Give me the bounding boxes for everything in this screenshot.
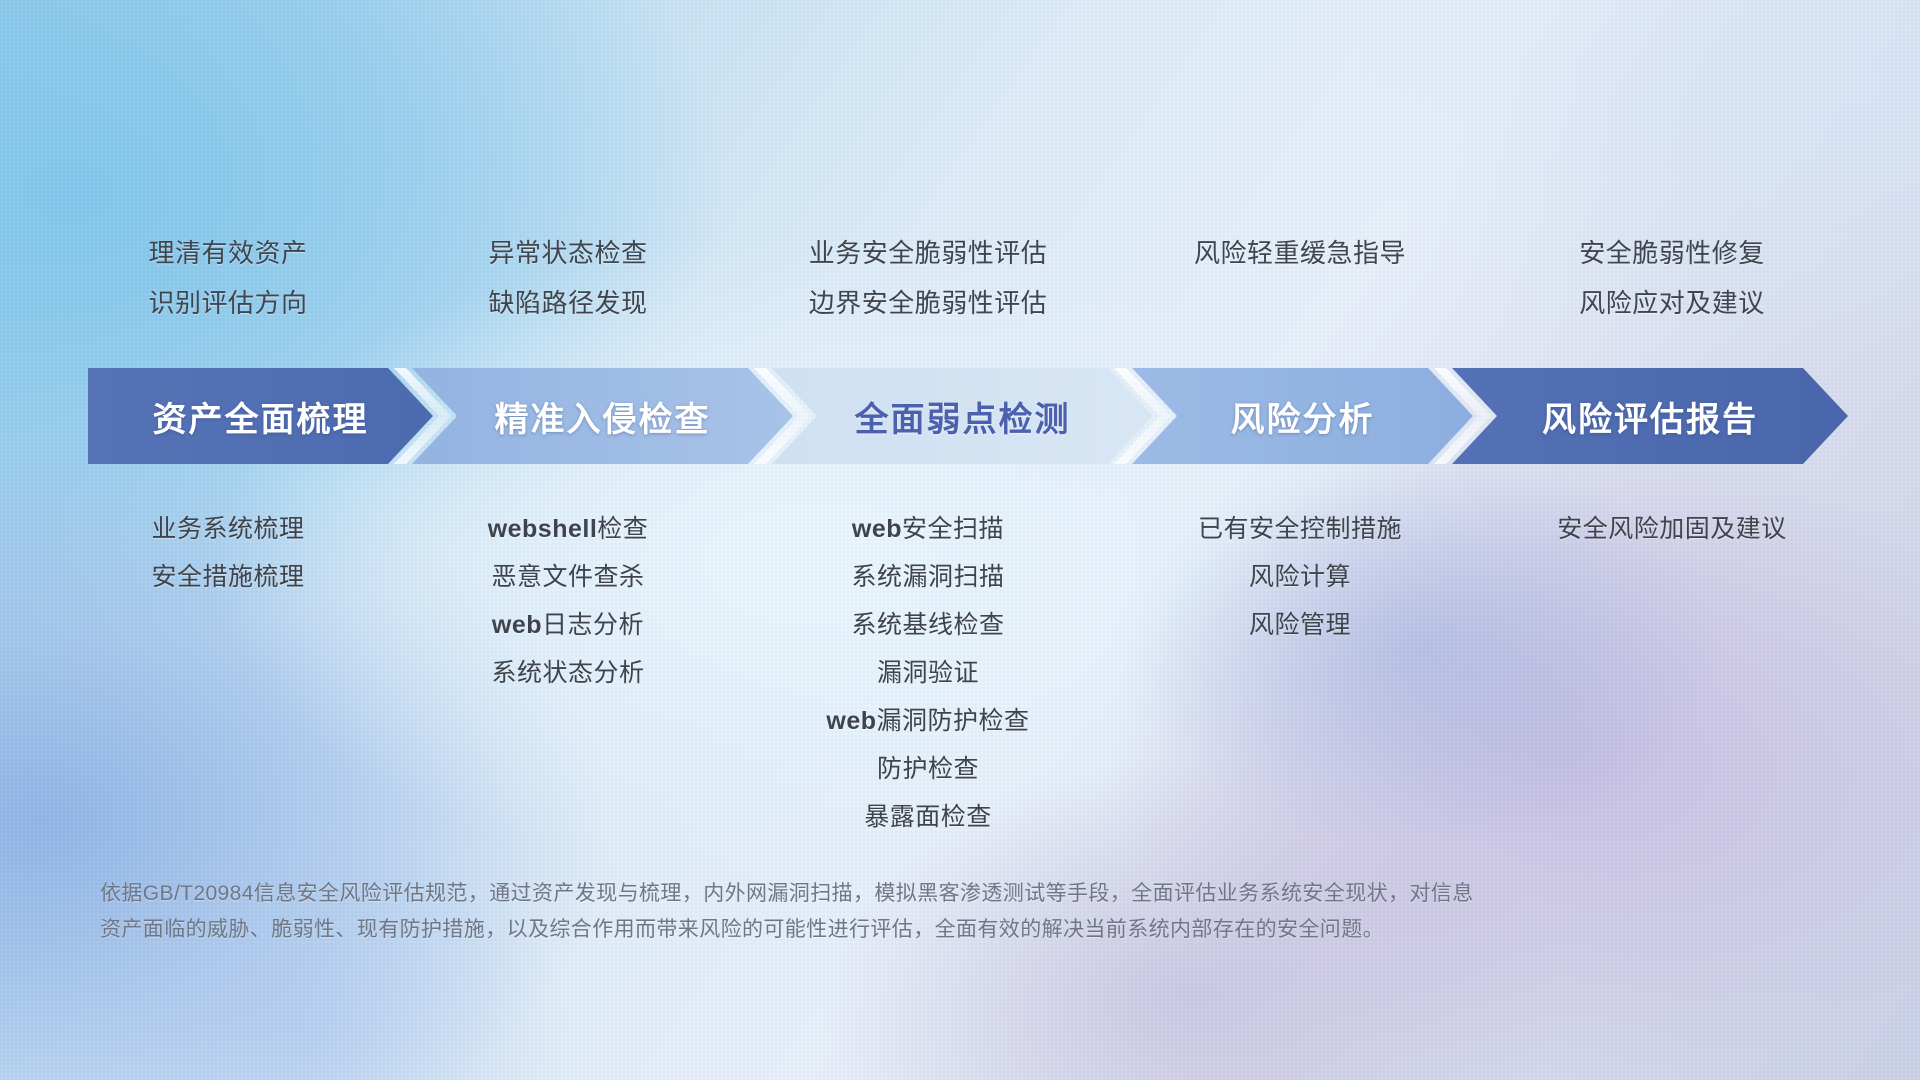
top-items-assessment-report: 安全脆弱性修复风险应对及建议: [1422, 228, 1920, 328]
bottom-item: 系统状态分析: [491, 649, 644, 697]
bottom-item: 系统基线检查: [851, 601, 1004, 649]
top-item: 风险应对及建议: [1579, 278, 1765, 328]
chevron-stage-4: [1132, 368, 1473, 464]
bottom-item: web日志分析: [492, 601, 644, 649]
bottom-item: web漏洞防护检查: [826, 697, 1029, 745]
bottom-item: 恶意文件查杀: [491, 553, 644, 601]
top-item: 风险轻重缓急指导: [1194, 228, 1406, 278]
bottom-item: 暴露面检查: [864, 793, 992, 841]
bottom-item: web安全扫描: [852, 505, 1004, 553]
top-item: 安全脆弱性修复: [1579, 228, 1765, 278]
chevron-stage-2: [412, 368, 793, 464]
footer-line-1: 依据GB/T20984信息安全风险评估规范，通过资产发现与梳理，内外网漏洞扫描，…: [100, 876, 1760, 912]
bottom-item: 漏洞验证: [877, 649, 979, 697]
top-item: 识别评估方向: [148, 278, 307, 328]
bottom-item: 防护检查: [877, 745, 979, 793]
chevron-stage-3: [772, 368, 1153, 464]
process-chevron-band: 资产全面梳理精准入侵检查全面弱点检测风险分析风险评估报告: [88, 368, 1848, 464]
bottom-item: 风险计算: [1249, 553, 1351, 601]
bottom-item: 安全措施梳理: [151, 553, 304, 601]
process-diagram: 理清有效资产识别评估方向异常状态检查缺陷路径发现业务安全脆弱性评估边界安全脆弱性…: [0, 0, 1920, 1080]
bottom-item: 已有安全控制措施: [1198, 505, 1402, 553]
top-item: 边界安全脆弱性评估: [809, 278, 1048, 328]
bottom-item: 风险管理: [1249, 601, 1351, 649]
chevron-stage-5: [1452, 368, 1848, 464]
top-item: 业务安全脆弱性评估: [809, 228, 1048, 278]
top-item: 异常状态检查: [488, 228, 647, 278]
top-item: 理清有效资产: [148, 228, 307, 278]
bottom-item: 系统漏洞扫描: [851, 553, 1004, 601]
chevron-stage-1: [88, 368, 433, 464]
bottom-item: webshell检查: [488, 505, 649, 553]
bottom-item: 业务系统梳理: [151, 505, 304, 553]
top-item: 缺陷路径发现: [488, 278, 647, 328]
footer-description: 依据GB/T20984信息安全风险评估规范，通过资产发现与梳理，内外网漏洞扫描，…: [100, 876, 1760, 948]
bottom-items-assessment-report: 安全风险加固及建议: [1422, 505, 1920, 553]
bottom-item: 安全风险加固及建议: [1557, 505, 1787, 553]
footer-line-2: 资产面临的威胁、脆弱性、现有防护措施，以及综合作用而带来风险的可能性进行评估，全…: [100, 912, 1760, 948]
